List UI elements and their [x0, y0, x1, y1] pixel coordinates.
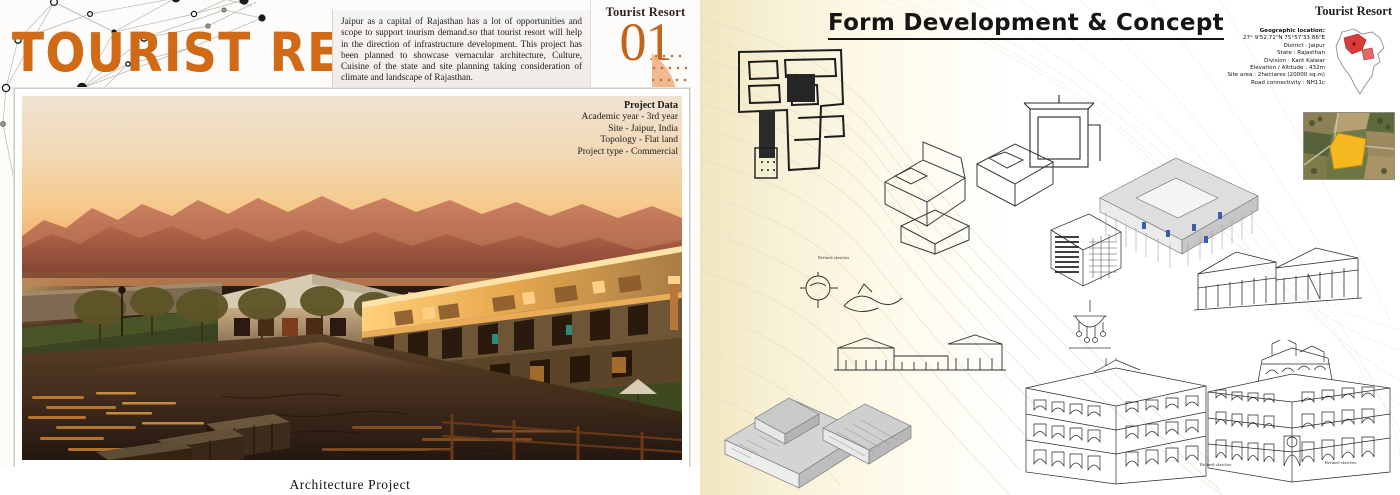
sketch-initial-plan — [725, 40, 865, 180]
presentation-board: TOURIST RESORT Jaipur as a capital of Ra… — [0, 0, 1400, 495]
corner-project-label: Tourist Resort — [1315, 4, 1392, 19]
geo-division: Division : Kant Kalwar — [1217, 58, 1325, 65]
project-data-row: Project type - Commercial — [478, 147, 678, 159]
geo-heading: Geographic location: — [1217, 28, 1325, 35]
right-panel: Form Development & Concept Tourist Resor… — [700, 0, 1400, 495]
sketch-arcade-facade — [1020, 358, 1210, 488]
geo-state: State : Rajasthan — [1217, 50, 1325, 57]
satellite-site-map — [1303, 112, 1395, 180]
dotted-arc-right — [700, 36, 712, 174]
project-data-row: Academic year - 3rd year — [478, 112, 678, 124]
sketch-section-elevation — [830, 330, 1010, 376]
sketch-chandelier-motif — [1055, 298, 1125, 354]
geographic-info-block: Geographic location: 27° 9'52.71"N 75°57… — [1217, 28, 1325, 87]
sketch-concept-doodle — [800, 272, 910, 322]
project-data-row: Topology - Flat land — [478, 135, 678, 147]
board-title: TOURIST RESORT — [12, 24, 345, 83]
geo-district: District : Jaipur — [1217, 43, 1325, 50]
model-site-massing — [715, 378, 915, 490]
board-footer-label: Architecture Project — [0, 477, 700, 493]
geo-coordinates: 27° 9'52.71"N 75°57'33.86"E — [1217, 35, 1325, 42]
project-data-block: Project Data Academic year - 3rd year Si… — [478, 100, 678, 158]
board-title-wrap: TOURIST RESORT — [12, 24, 332, 80]
caption-refined-sketches-3: Refined sketches — [1200, 462, 1231, 467]
india-map-icon — [1328, 26, 1394, 98]
caption-refined-sketches: Refined sketches — [818, 255, 849, 260]
section-heading: Form Development & Concept — [828, 10, 1224, 40]
project-description-text: Jaipur as a capital of Rajasthan has a l… — [341, 16, 582, 84]
project-data-title: Project Data — [478, 100, 678, 111]
sketch-perspective-elevation — [1188, 238, 1368, 326]
project-data-row: Site - Jaipur, India — [478, 124, 678, 136]
geo-site-area: Site area : 2hectares (20000 sq.m) — [1217, 72, 1325, 79]
geo-elevation: Elevation / Altitude : 432m — [1217, 65, 1325, 72]
caption-refined-sketches-2: Refined sketches — [1325, 460, 1356, 465]
project-description-block: Jaipur as a capital of Rajasthan has a l… — [332, 10, 590, 88]
geo-road-connectivity: Road connectivity : NH11c — [1217, 80, 1325, 87]
left-panel: TOURIST RESORT Jaipur as a capital of Ra… — [0, 0, 700, 495]
